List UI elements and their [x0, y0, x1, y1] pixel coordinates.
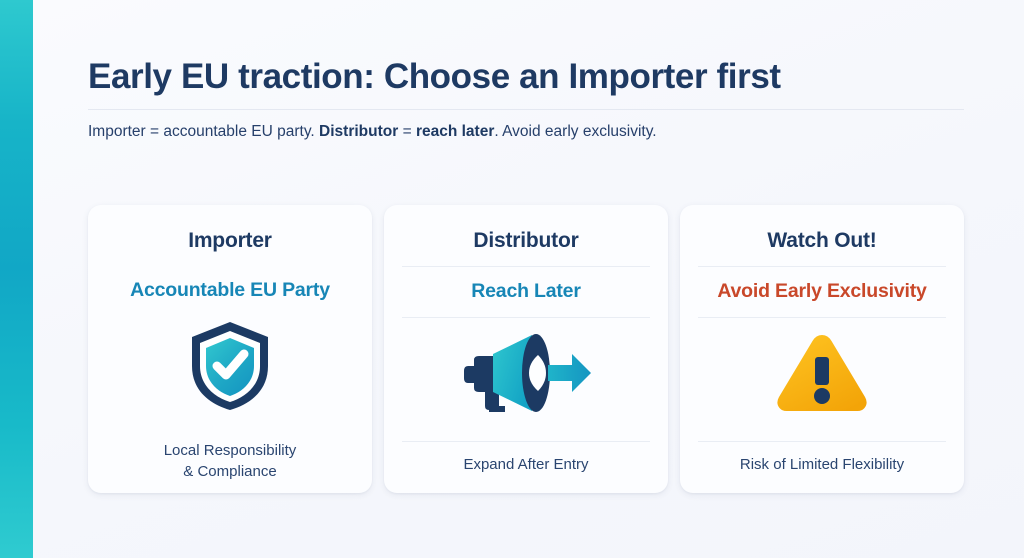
page-subtitle: Importer = accountable EU party. Distrib… — [88, 110, 964, 143]
card-footnote: Local Responsibility & Compliance — [164, 428, 297, 484]
card-watch-out[interactable]: Watch Out! Avoid Early Exclusivity — [680, 205, 964, 493]
card-subtitle: Accountable EU Party — [130, 266, 330, 301]
subtitle-segment-1: Importer = accountable EU party. — [88, 123, 319, 140]
card-distributor[interactable]: Distributor Reach Later — [384, 205, 668, 493]
card-title: Distributor — [473, 223, 578, 252]
card-subtitle: Reach Later — [471, 267, 580, 302]
page-title: Early EU traction: Choose an Importer fi… — [88, 56, 964, 97]
card-icon-area — [698, 318, 946, 427]
card-footnote: Risk of Limited Flexibility — [740, 442, 904, 477]
header: Early EU traction: Choose an Importer fi… — [88, 56, 964, 143]
card-icon-area — [106, 316, 354, 414]
card-icon-area — [402, 318, 650, 427]
subtitle-bold-distributor: Distributor — [319, 123, 398, 140]
slide-content: Early EU traction: Choose an Importer fi… — [33, 0, 1024, 558]
slide-root: Early EU traction: Choose an Importer fi… — [0, 0, 1024, 558]
warning-triangle-icon — [772, 329, 872, 417]
shield-check-icon — [186, 320, 274, 412]
card-importer[interactable]: Importer Accountable EU Party — [88, 205, 372, 493]
subtitle-segment-3: . Avoid early exclusivity. — [494, 123, 656, 140]
card-subtitle: Avoid Early Exclusivity — [717, 267, 926, 302]
subtitle-segment-2: = — [398, 123, 416, 140]
left-accent-bar — [0, 0, 33, 558]
subtitle-bold-reach-later: reach later — [416, 123, 494, 140]
card-title: Watch Out! — [767, 223, 876, 252]
card-title: Importer — [188, 223, 272, 252]
card-footnote: Expand After Entry — [463, 442, 588, 477]
megaphone-arrow-icon — [460, 330, 592, 416]
card-row: Importer Accountable EU Party — [88, 205, 964, 493]
